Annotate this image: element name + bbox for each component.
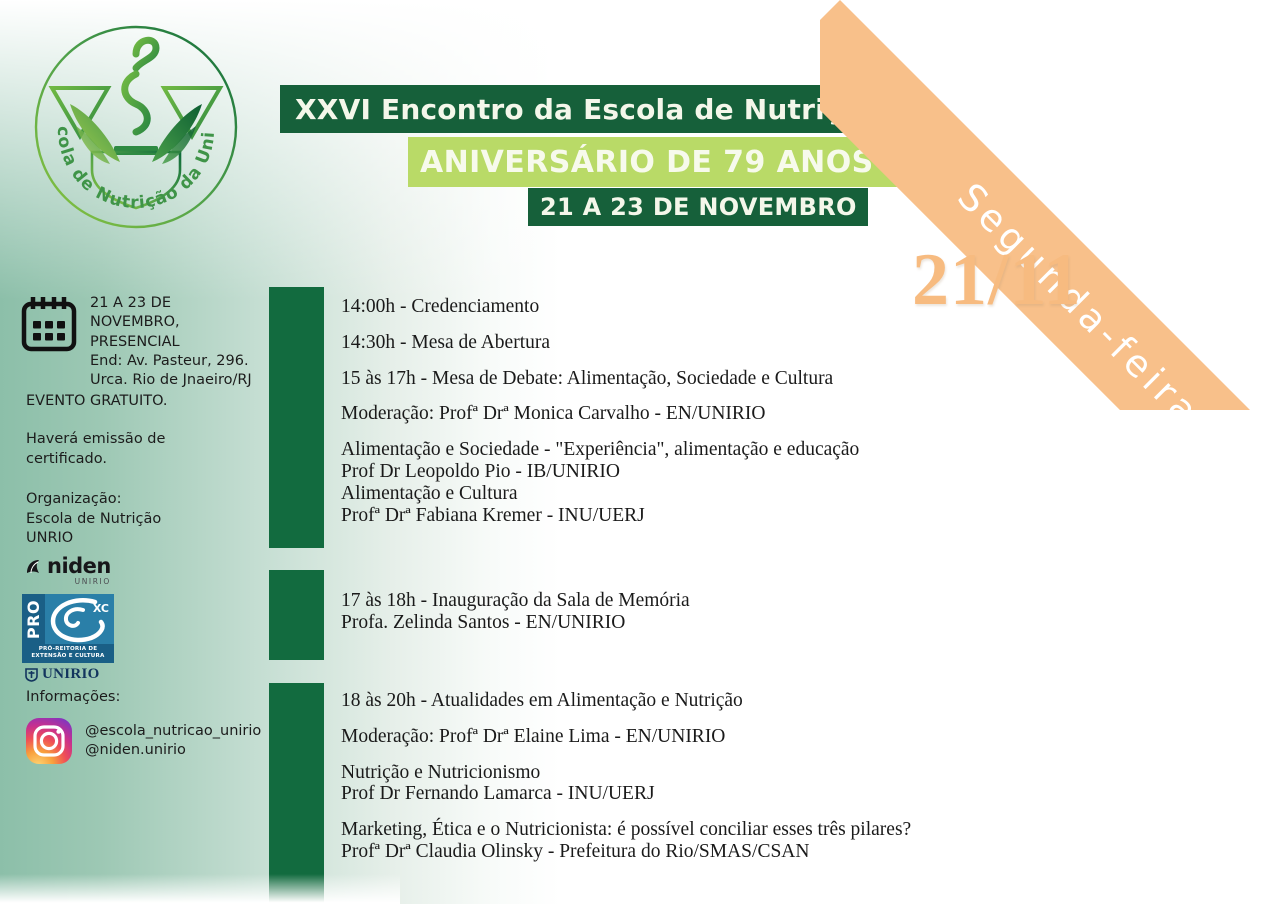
- instagram-icon[interactable]: [26, 718, 72, 764]
- niden-leaf-icon: [26, 559, 44, 575]
- niden-logo-name: niden: [47, 556, 111, 577]
- venue-info-text: 21 A 23 DE NOVEMBRO, PRESENCIAL End: Av.…: [90, 294, 265, 390]
- schedule-block-2: 17 às 18h - Inauguração da Sala de Memór…: [341, 590, 690, 634]
- proexc-logo: PRO XC PRÓ-REITORIA DE EXTENSÃO E CULTUR…: [22, 594, 114, 683]
- weekday-ribbon: Segunda-feira: [820, 0, 1280, 410]
- title-banner-dates: 21 A 23 DE NOVEMBRO: [528, 188, 868, 226]
- schedule-line: 14:30h - Mesa de Abertura: [341, 332, 859, 354]
- event-poster: Escola de Nutrição da Unirio XXVI Encont…: [0, 0, 1280, 904]
- schedule-line: Alimentação e Sociedade - "Experiência",…: [341, 439, 859, 461]
- proexc-caption: PRÓ-REITORIA DE EXTENSÃO E CULTURA: [22, 644, 114, 663]
- instagram-handles[interactable]: @escola_nutricao_unirio @niden.unirio: [85, 722, 261, 760]
- title-banner-primary: XXVI Encontro da Escola de Nutrição: [280, 85, 883, 133]
- schedule-block-3: 18 às 20h - Atualidades em Alimentação e…: [341, 690, 911, 863]
- instagram-row[interactable]: @escola_nutricao_unirio @niden.unirio: [26, 718, 261, 764]
- organization-note: Organização: Escola de Nutrição UNRIO: [26, 490, 161, 549]
- proexc-unirio-row: UNIRIO: [22, 666, 114, 683]
- schedule-accent-bar-2: [269, 570, 324, 660]
- schedule-line: Profª Drª Claudia Olinsky - Prefeitura d…: [341, 841, 911, 863]
- schedule-accent-bar-3: [269, 683, 324, 904]
- sidebar: 21 A 23 DE NOVEMBRO, PRESENCIAL End: Av.…: [0, 280, 265, 904]
- escola-de-nutricao-emblem: Escola de Nutrição da Unirio: [32, 12, 240, 242]
- certificate-note: Haverá emissão de certificado.: [26, 430, 165, 469]
- proexc-unirio-label: UNIRIO: [42, 666, 100, 683]
- schedule-line: 15 às 17h - Mesa de Debate: Alimentação,…: [341, 368, 859, 390]
- schedule-block-1: 14:00h - Credenciamento14:30h - Mesa de …: [341, 296, 859, 527]
- niden-logo: niden UNIRIO: [26, 556, 111, 586]
- free-event-note: EVENTO GRATUITO.: [26, 392, 168, 412]
- emblem-svg: Escola de Nutrição da Unirio: [32, 12, 240, 242]
- schedule-line: Profa. Zelinda Santos - EN/UNIRIO: [341, 612, 690, 634]
- schedule-line: Moderação: Profª Drª Elaine Lima - EN/UN…: [341, 726, 911, 748]
- schedule-line: 14:00h - Credenciamento: [341, 296, 859, 318]
- niden-logo-text: niden UNIRIO: [47, 556, 111, 586]
- weekday-ribbon-band: Segunda-feira: [820, 0, 1280, 410]
- proexc-xc-label: XC: [93, 602, 109, 615]
- schedule-line: Alimentação e Cultura: [341, 483, 859, 505]
- schedule-line: Nutrição e Nutricionismo: [341, 762, 911, 784]
- schedule-line: Prof Dr Leopoldo Pio - IB/UNIRIO: [341, 461, 859, 483]
- background-fade-bottom: [0, 874, 400, 904]
- schedule-line: 18 às 20h - Atualidades em Alimentação e…: [341, 690, 911, 712]
- proexc-pro-block: PRO: [22, 594, 45, 644]
- info-label: Informações:: [26, 688, 120, 708]
- schedule-accent-bar-1: [269, 287, 324, 548]
- proexc-swirl-block: XC: [45, 594, 114, 644]
- venue-info-row: 21 A 23 DE NOVEMBRO, PRESENCIAL End: Av.…: [18, 294, 265, 390]
- schedule-line: Moderação: Profª Drª Monica Carvalho - E…: [341, 403, 859, 425]
- schedule-line: Marketing, Ética e o Nutricionista: é po…: [341, 819, 911, 841]
- niden-logo-subtitle: UNIRIO: [47, 578, 111, 586]
- schedule-line: 17 às 18h - Inauguração da Sala de Memór…: [341, 590, 690, 612]
- day-date-display: 21/11: [912, 238, 1081, 323]
- unirio-crest-icon: [24, 667, 39, 682]
- calendar-icon: [18, 294, 80, 354]
- schedule-line: Profª Drª Fabiana Kremer - INU/UERJ: [341, 505, 859, 527]
- title-banner-anniversary: ANIVERSÁRIO DE 79 ANOS: [408, 137, 917, 187]
- proexc-pro-label: PRO: [24, 599, 43, 638]
- schedule-line: Prof Dr Fernando Lamarca - INU/UERJ: [341, 783, 911, 805]
- proexc-logo-mark: PRO XC: [22, 594, 114, 644]
